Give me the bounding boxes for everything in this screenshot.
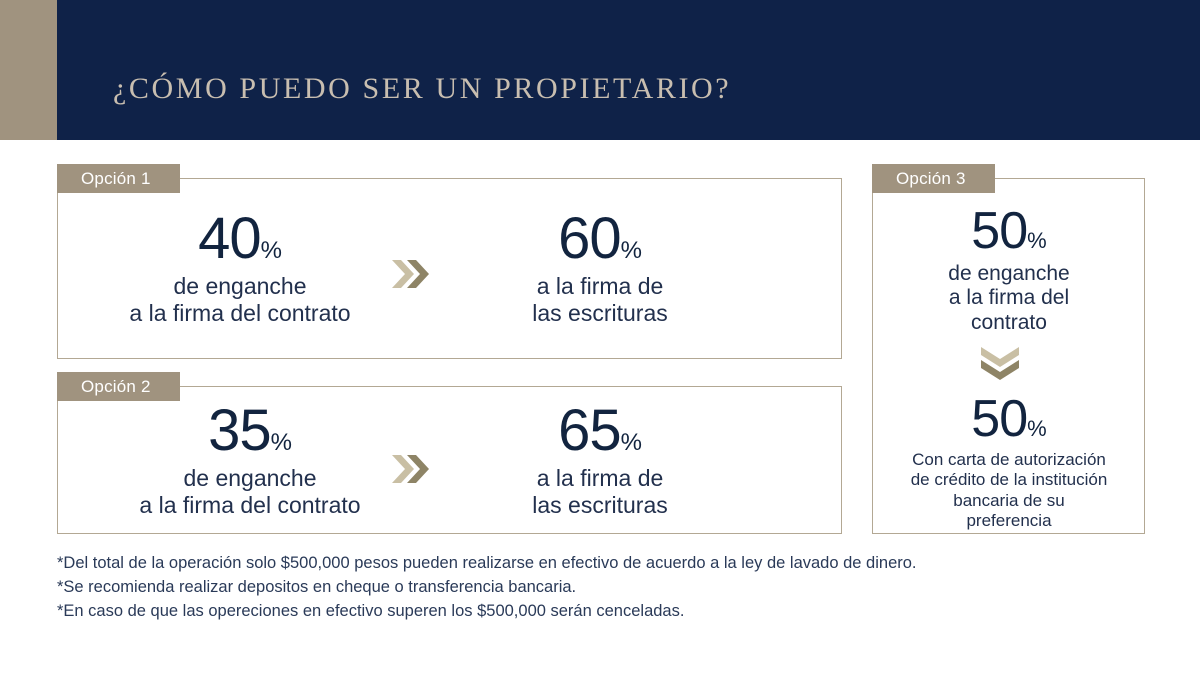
option-1-step-2: 60% a la firma de las escrituras — [460, 210, 740, 326]
option-2-step-2-value: 65 — [558, 398, 621, 463]
double-chevron-right-icon — [392, 257, 430, 291]
option-1-step-1-description: de enganche a la firma del contrato — [100, 273, 380, 326]
option-3-step-1-percent: % — [1027, 228, 1047, 253]
option-1-step-1-value: 40 — [198, 206, 261, 271]
page-title: ¿CÓMO PUEDO SER UN PROPIETARIO? — [113, 72, 731, 106]
option-1-step-1-value-line: 40% — [100, 210, 380, 268]
option-3-step-2-description: Con carta de autorización de crédito de … — [880, 450, 1138, 532]
option-3-step-1-value: 50 — [971, 202, 1027, 260]
option-2-step-2-percent: % — [621, 429, 642, 456]
option-2-tab[interactable]: Opción 2 — [57, 372, 180, 401]
option-3-tab[interactable]: Opción 3 — [872, 164, 995, 193]
option-2-step-2: 65% a la firma de las escrituras — [460, 402, 740, 518]
option-3-step-2: 50% Con carta de autorización de crédito… — [880, 393, 1138, 532]
option-2-step-1-percent: % — [271, 429, 292, 456]
option-3-step-1-description: de enganche a la firma del contrato — [880, 262, 1138, 335]
option-2-step-1-value: 35 — [208, 398, 271, 463]
option-3-tab-label: Opción 3 — [896, 169, 966, 189]
option-2-step-1-description: de enganche a la firma del contrato — [100, 465, 400, 518]
footnote-1: *Del total de la operación solo $500,000… — [57, 552, 1157, 576]
option-3-step-2-value: 50 — [971, 390, 1027, 448]
option-2-step-1: 35% de enganche a la firma del contrato — [100, 402, 400, 518]
option-1-step-2-percent: % — [621, 237, 642, 264]
header-bar: ¿CÓMO PUEDO SER UN PROPIETARIO? — [0, 0, 1200, 140]
footnote-2: *Se recomienda realizar depositos en che… — [57, 576, 1157, 600]
option-3-step-2-percent: % — [1027, 416, 1047, 441]
header-accent-stripe — [0, 0, 57, 140]
header-background — [57, 0, 1200, 140]
option-3-step-1-value-line: 50% — [880, 205, 1138, 257]
option-2-step-1-value-line: 35% — [100, 402, 400, 460]
footnote-3: *En caso de que las opereciones en efect… — [57, 600, 1157, 624]
option-3-step-2-value-line: 50% — [880, 393, 1138, 445]
option-1-step-2-value: 60 — [558, 206, 621, 271]
option-3-step-1: 50% de enganche a la firma del contrato — [880, 205, 1138, 335]
footnotes: *Del total de la operación solo $500,000… — [57, 552, 1157, 623]
option-2-step-2-value-line: 65% — [460, 402, 740, 460]
option-1-tab-label: Opción 1 — [81, 169, 151, 189]
option-2-step-2-description: a la firma de las escrituras — [460, 465, 740, 518]
double-chevron-right-icon — [392, 452, 430, 486]
double-chevron-down-icon — [978, 347, 1022, 381]
option-1-tab[interactable]: Opción 1 — [57, 164, 180, 193]
option-1-step-1: 40% de enganche a la firma del contrato — [100, 210, 380, 326]
option-1-step-1-percent: % — [261, 237, 282, 264]
option-1-step-2-value-line: 60% — [460, 210, 740, 268]
option-1-step-2-description: a la firma de las escrituras — [460, 273, 740, 326]
option-2-tab-label: Opción 2 — [81, 377, 151, 397]
